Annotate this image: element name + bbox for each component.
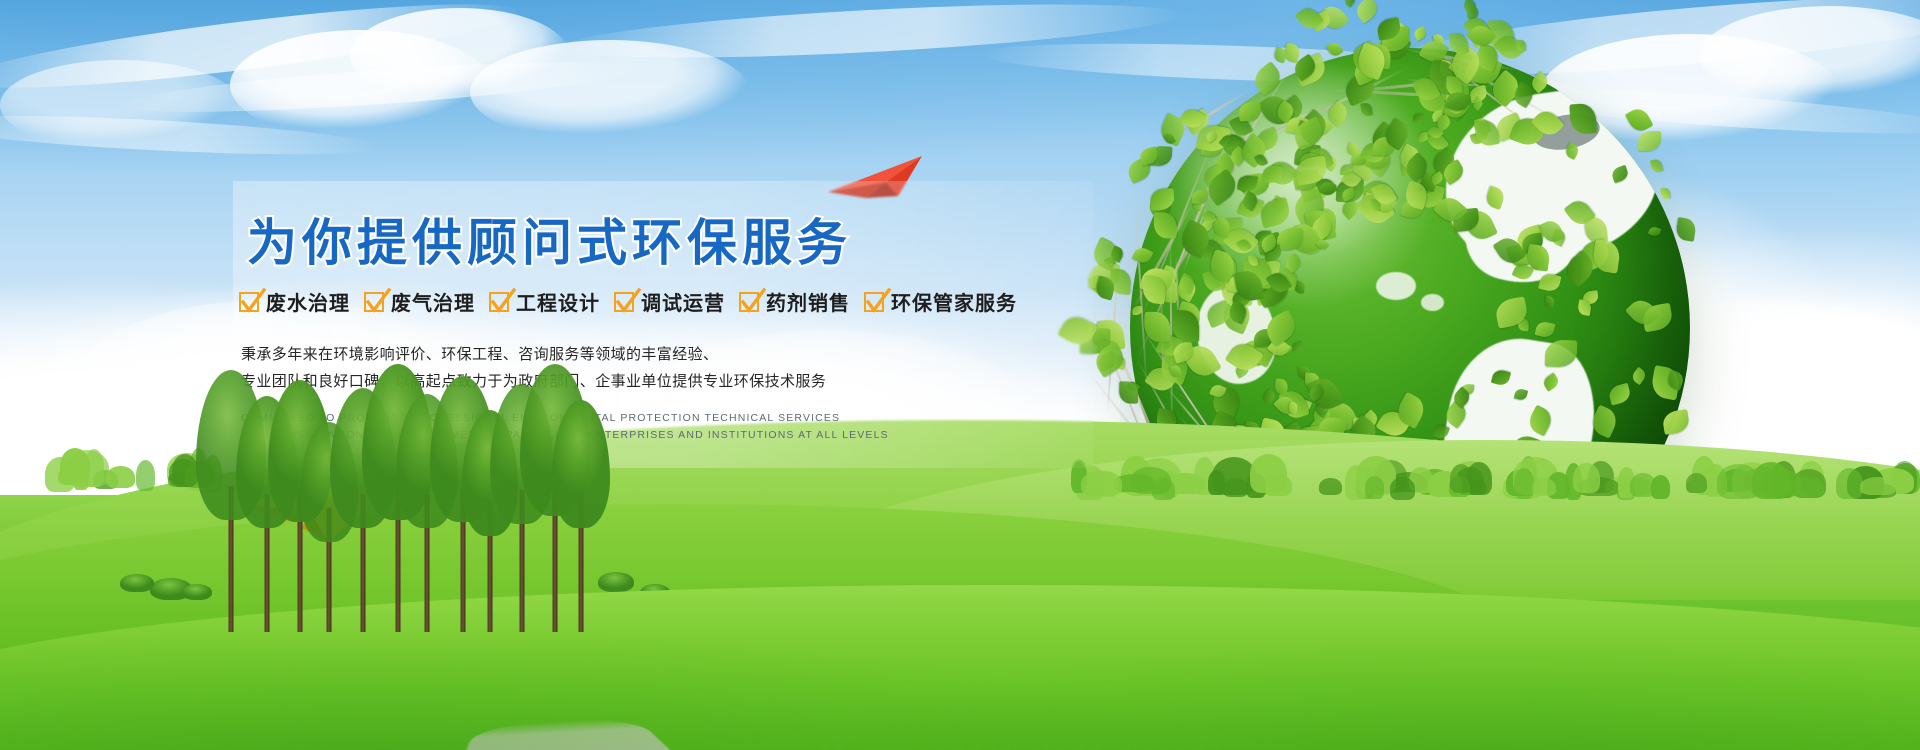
ivy-leaf: [1352, 0, 1381, 24]
distant-tree: [1752, 462, 1789, 498]
ivy-leaf: [1470, 27, 1492, 48]
feature-item-1[interactable]: 废水治理: [239, 287, 350, 316]
ivy-leaf: [1125, 156, 1154, 183]
cloud-puff-3: [470, 40, 750, 144]
feature-item-6[interactable]: 环保管家服务: [864, 287, 1017, 316]
ivy-leaf: [1463, 14, 1491, 42]
ivy-leaf: [1282, 42, 1301, 63]
ivy-leaf: [1184, 108, 1213, 136]
checkbox-checked-icon: [489, 292, 509, 312]
ivy-leaf: [1375, 17, 1402, 41]
ivy-leaf: [1517, 40, 1527, 51]
checkbox-checked-icon: [239, 292, 259, 312]
checkbox-checked-icon: [739, 292, 759, 312]
distant-tree: [106, 466, 135, 489]
ivy-leaf: [1096, 350, 1120, 372]
feature-item-5[interactable]: 药剂销售: [739, 287, 850, 316]
feature-item-4[interactable]: 调试运营: [614, 287, 725, 316]
ivy-leaf: [1163, 132, 1176, 146]
feature-label: 调试运营: [641, 287, 725, 316]
distant-tree: [1532, 478, 1556, 496]
ivy-leaf: [1096, 340, 1112, 355]
environmental-service-banner: 为你提供顾问式环保服务 废水治理废气治理工程设计调试运营药剂销售环保管家服务 秉…: [0, 0, 1920, 750]
checkbox-checked-icon: [614, 292, 634, 312]
distant-tree: [1514, 468, 1534, 499]
distant-tree: [1630, 473, 1656, 497]
ivy-leaf: [1097, 318, 1126, 351]
cloud-puff-4: [0, 60, 240, 150]
distant-tree: [1319, 478, 1342, 495]
page-title: 为你提供顾问式环保服务: [247, 203, 852, 275]
distant-tree: [1098, 471, 1118, 497]
feature-label: 工程设计: [516, 287, 600, 316]
ivy-leaf: [1660, 188, 1670, 200]
ivy-leaf: [1342, 0, 1357, 8]
ivy-leaf: [1326, 40, 1343, 58]
ivy-leaf: [1179, 106, 1206, 132]
feature-item-2[interactable]: 废气治理: [364, 287, 475, 316]
tree-crown: [552, 400, 610, 528]
ivy-leaf: [1675, 217, 1697, 242]
distant-tree: [73, 463, 89, 489]
ivy-leaf: [1467, 21, 1497, 50]
ivy-leaf: [1383, 17, 1410, 45]
checkbox-checked-icon: [364, 292, 384, 312]
distant-tree: [1250, 454, 1287, 493]
distant-tree-line-right: [1060, 464, 1920, 500]
ivy-leaf: [1413, 26, 1429, 41]
ivy-leaf: [1391, 28, 1409, 47]
ivy-leaf: [1094, 276, 1117, 301]
ivy-leaf: [1147, 145, 1172, 167]
feature-item-3[interactable]: 工程设计: [489, 287, 600, 316]
ivy-leaf: [1487, 19, 1515, 51]
ivy-leaf: [1272, 47, 1288, 64]
distant-tree: [1686, 473, 1707, 494]
ivy-leaf: [1109, 268, 1132, 294]
ivy-vine: [1107, 259, 1120, 414]
ivy-leaf: [1104, 256, 1117, 270]
distant-tree: [1152, 478, 1174, 500]
ivy-leaf: [1309, 10, 1333, 32]
ivy-leaf: [1089, 236, 1122, 270]
ivy-leaf: [1464, 6, 1481, 22]
ivy-leaf: [1108, 245, 1125, 263]
poplar-tree: [552, 400, 610, 632]
feature-list: 废水治理废气治理工程设计调试运营药剂销售环保管家服务: [239, 287, 1017, 316]
feature-label: 废气治理: [391, 287, 475, 316]
feature-label: 废水治理: [266, 287, 350, 316]
distant-tree: [1365, 476, 1385, 499]
ivy-leaf: [1493, 32, 1525, 65]
feature-label: 环保管家服务: [891, 287, 1017, 316]
distant-tree: [1390, 477, 1415, 500]
distant-tree: [1860, 477, 1896, 495]
ivy-leaf: [1139, 146, 1160, 165]
distant-tree: [1836, 468, 1863, 500]
ivy-leaf: [1088, 262, 1120, 290]
checkbox-checked-icon: [864, 292, 884, 312]
distant-tree: [136, 460, 155, 491]
distant-tree: [1450, 464, 1472, 493]
ivy-leaf: [1091, 342, 1129, 379]
feature-label: 药剂销售: [766, 287, 850, 316]
ivy-leaf: [1112, 355, 1126, 370]
ivy-leaf: [1433, 34, 1444, 47]
ivy-leaf: [1156, 113, 1189, 148]
ivy-leaf: [1317, 2, 1349, 35]
distant-tree: [172, 454, 198, 487]
ivy-leaf: [1295, 4, 1323, 33]
ivy-leaf: [1462, 0, 1477, 14]
distant-tree: [1573, 463, 1600, 494]
